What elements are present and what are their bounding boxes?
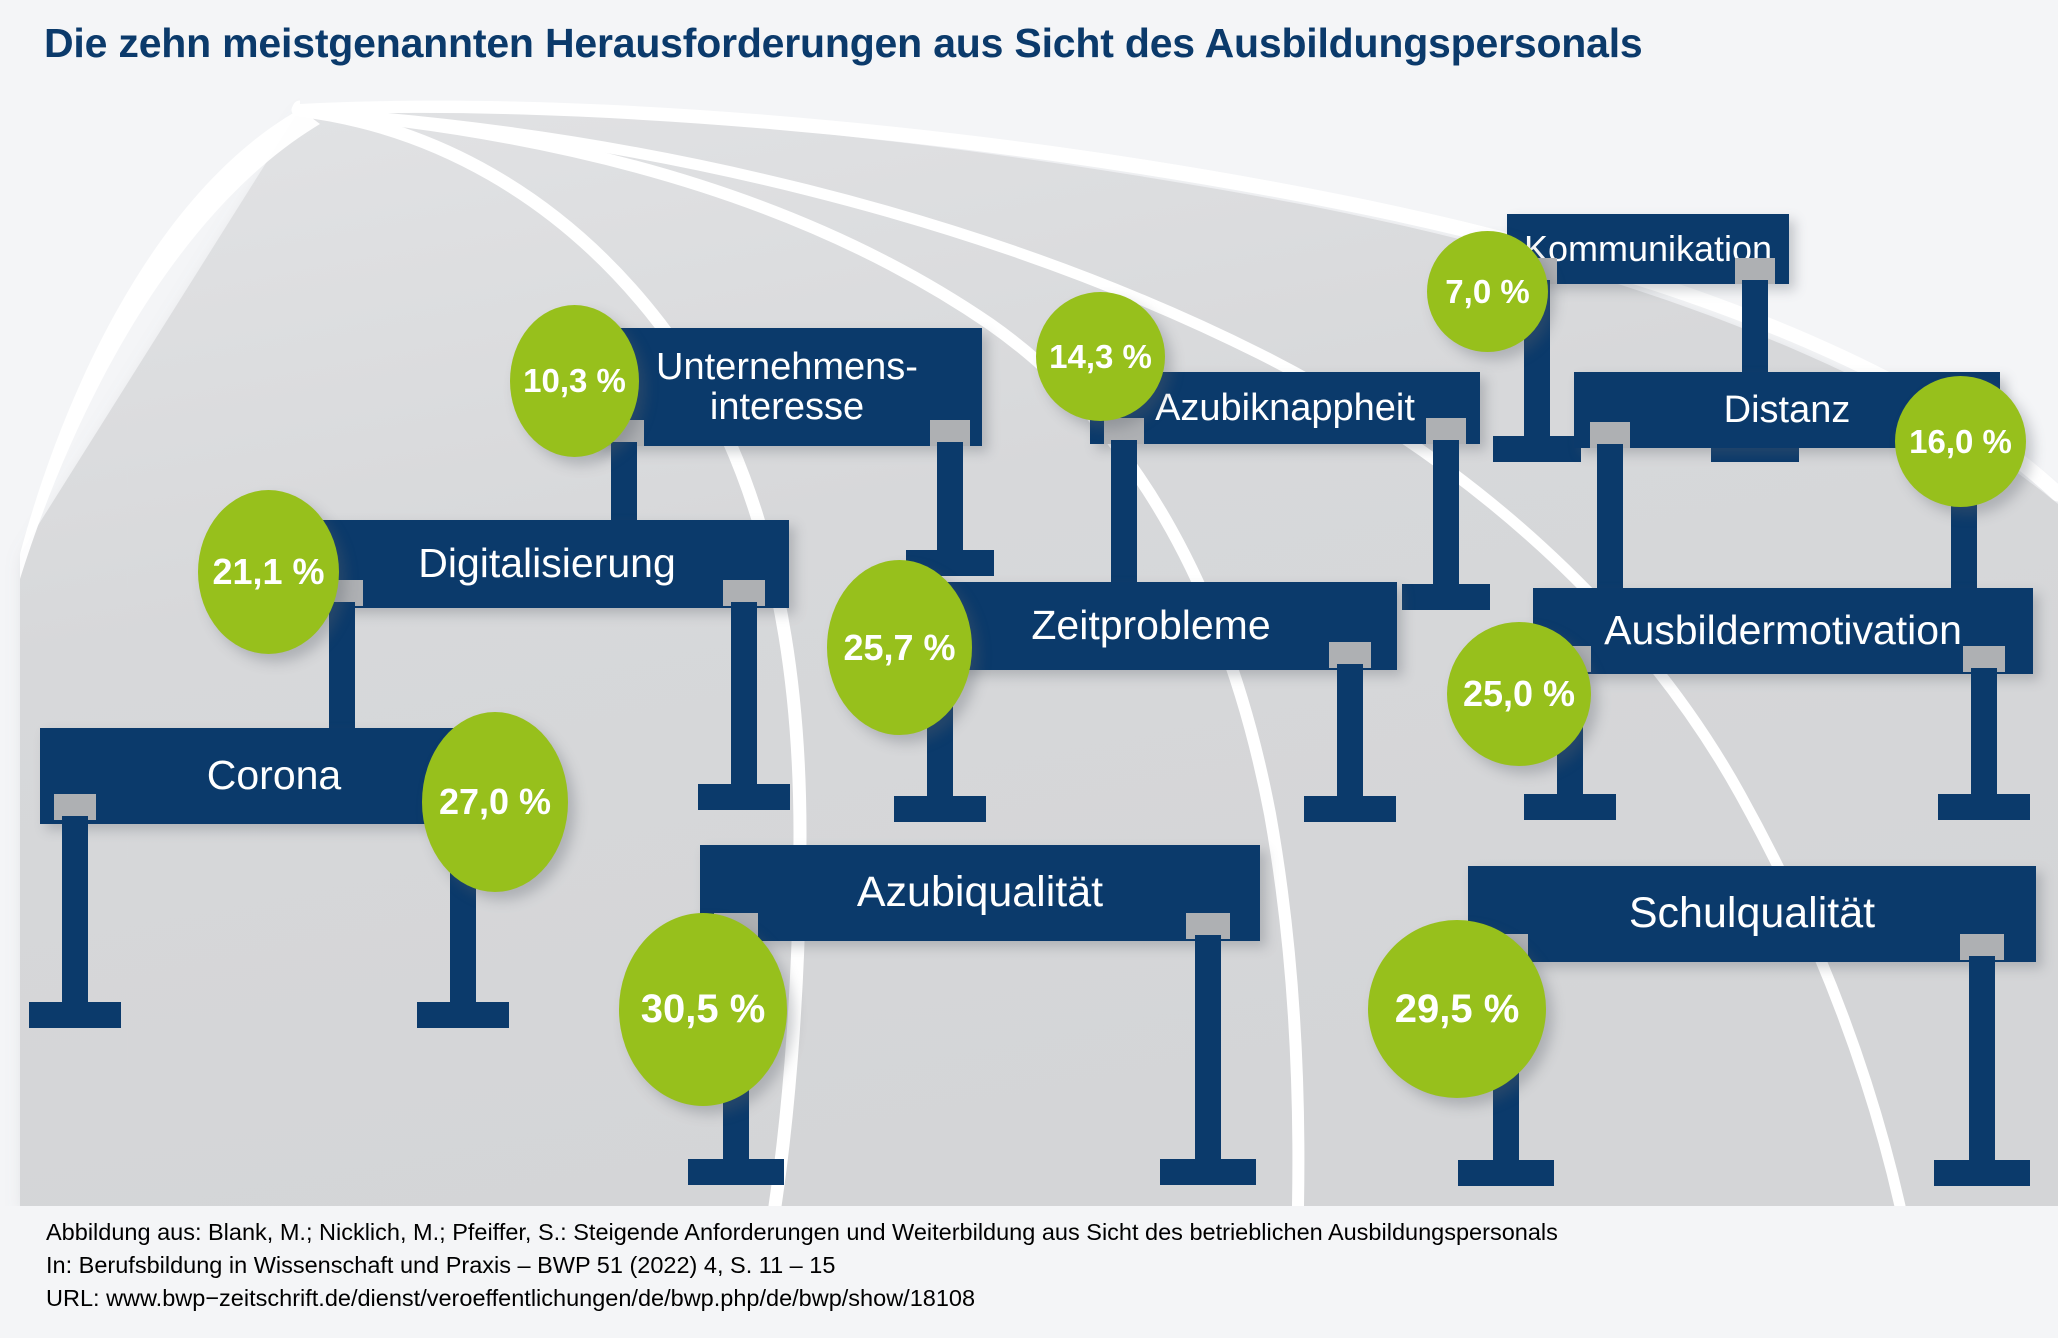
hurdle-leg-right bbox=[723, 580, 765, 810]
hurdle-label-zeitprobleme: Zeitprobleme bbox=[1017, 604, 1284, 647]
pct-bubble-azubiqualitaet: 30,5 % bbox=[619, 913, 787, 1106]
footer-line-2: In: Berufsbildung in Wissenschaft und Pr… bbox=[46, 1249, 2026, 1282]
hurdle-label-unternehmensinteresse-line1: Unternehmens- bbox=[642, 347, 932, 387]
pct-bubble-corona: 27,0 % bbox=[422, 712, 568, 892]
hurdle-label-distanz: Distanz bbox=[1710, 390, 1865, 430]
leg-foot bbox=[1304, 796, 1396, 822]
leg-post bbox=[1597, 444, 1623, 598]
leg-foot bbox=[894, 796, 986, 822]
hurdle-leg-right bbox=[1963, 646, 2005, 820]
pct-bubble-zeitprobleme: 25,7 % bbox=[827, 560, 972, 735]
leg-post bbox=[1433, 440, 1459, 588]
leg-foot bbox=[698, 784, 790, 810]
pct-value-zeitprobleme: 25,7 % bbox=[843, 627, 955, 669]
leg-post bbox=[1111, 440, 1137, 588]
pct-value-kommunikation: 7,0 % bbox=[1445, 273, 1529, 311]
hurdle-azubiknappheit[interactable]: Azubiknappheit bbox=[1090, 372, 1480, 610]
hurdle-bar-azubiqualitaet: Azubiqualität bbox=[700, 845, 1260, 941]
pct-value-ausbildermotivation: 25,0 % bbox=[1463, 673, 1575, 715]
hurdle-leg-right bbox=[1426, 418, 1466, 610]
pct-value-schulqualitaet: 29,5 % bbox=[1395, 987, 1520, 1032]
leg-post bbox=[1969, 956, 1995, 1160]
leg-foot bbox=[417, 1002, 509, 1028]
pct-bubble-azubiknappheit: 14,3 % bbox=[1036, 292, 1165, 421]
pct-value-azubiknappheit: 14,3 % bbox=[1049, 338, 1152, 376]
leg-post bbox=[1195, 935, 1221, 1159]
leg-post bbox=[1337, 664, 1363, 798]
leg-post bbox=[1971, 668, 1997, 796]
pct-bubble-schulqualitaet: 29,5 % bbox=[1368, 920, 1546, 1098]
hurdle-label-corona: Corona bbox=[193, 754, 355, 797]
pct-bubble-distanz: 16,0 % bbox=[1895, 376, 2026, 507]
hurdle-leg-right bbox=[1186, 913, 1230, 1185]
pct-value-corona: 27,0 % bbox=[439, 781, 551, 823]
hurdle-leg-right bbox=[1960, 934, 2004, 1186]
leg-post bbox=[731, 602, 757, 784]
leg-foot bbox=[1493, 436, 1581, 462]
hurdle-label-digitalisierung: Digitalisierung bbox=[404, 542, 690, 585]
hurdle-leg-right bbox=[930, 420, 970, 576]
pct-value-unternehmensinteresse: 10,3 % bbox=[523, 362, 626, 400]
hurdle-bar-zeitprobleme: Zeitprobleme bbox=[905, 582, 1397, 670]
footer-line-3: URL: www.bwp−zeitschrift.de/dienst/veroe… bbox=[46, 1282, 2026, 1315]
pct-value-distanz: 16,0 % bbox=[1909, 423, 2012, 461]
leg-post bbox=[62, 816, 88, 1002]
leg-foot bbox=[1934, 1160, 2030, 1186]
leg-foot bbox=[29, 1002, 121, 1028]
pct-bubble-ausbildermotivation: 25,0 % bbox=[1447, 622, 1591, 766]
hurdle-schulqualitaet[interactable]: Schulqualität bbox=[1468, 866, 2036, 1186]
hurdle-zeitprobleme[interactable]: Zeitprobleme bbox=[905, 582, 1397, 822]
pct-bubble-unternehmensinteresse: 10,3 % bbox=[510, 305, 639, 457]
pct-bubble-kommunikation: 7,0 % bbox=[1427, 231, 1548, 352]
leg-foot bbox=[1458, 1160, 1554, 1186]
pct-bubble-digitalisierung: 21,1 % bbox=[198, 490, 339, 654]
leg-foot bbox=[688, 1159, 784, 1185]
hurdle-label-unternehmensinteresse-line2: interesse bbox=[696, 387, 878, 427]
hurdle-bar-digitalisierung: Digitalisierung bbox=[305, 520, 789, 608]
footer-line-1: Abbildung aus: Blank, M.; Nicklich, M.; … bbox=[46, 1216, 2026, 1249]
hurdle-bar-unternehmensinteresse: Unternehmens- interesse bbox=[592, 328, 982, 446]
hurdle-label-schulqualitaet: Schulqualität bbox=[1615, 891, 1889, 937]
hurdle-bar-ausbildermotivation: Ausbildermotivation bbox=[1533, 588, 2033, 674]
leg-foot bbox=[1160, 1159, 1256, 1185]
leg-post bbox=[937, 442, 963, 554]
hurdle-label-ausbildermotivation: Ausbildermotivation bbox=[1590, 609, 1976, 652]
source-footer: Abbildung aus: Blank, M.; Nicklich, M.; … bbox=[46, 1216, 2026, 1315]
pct-value-digitalisierung: 21,1 % bbox=[212, 551, 324, 593]
page-title: Die zehn meistgenannten Herausforderunge… bbox=[44, 20, 1643, 67]
leg-foot bbox=[1938, 794, 2030, 820]
hurdle-leg-right bbox=[1329, 642, 1371, 822]
leg-foot bbox=[1402, 584, 1490, 610]
infographic-root: Die zehn meistgenannten Herausforderunge… bbox=[0, 0, 2058, 1338]
hurdle-ausbildermotivation[interactable]: Ausbildermotivation bbox=[1533, 588, 2033, 820]
hurdle-leg-left bbox=[54, 794, 96, 1028]
hurdle-label-azubiknappheit: Azubiknappheit bbox=[1141, 388, 1429, 428]
hurdle-bar-schulqualitaet: Schulqualität bbox=[1468, 866, 2036, 962]
hurdle-label-azubiqualitaet: Azubiqualität bbox=[843, 870, 1117, 916]
leg-foot bbox=[1524, 794, 1616, 820]
pct-value-azubiqualitaet: 30,5 % bbox=[641, 987, 766, 1032]
